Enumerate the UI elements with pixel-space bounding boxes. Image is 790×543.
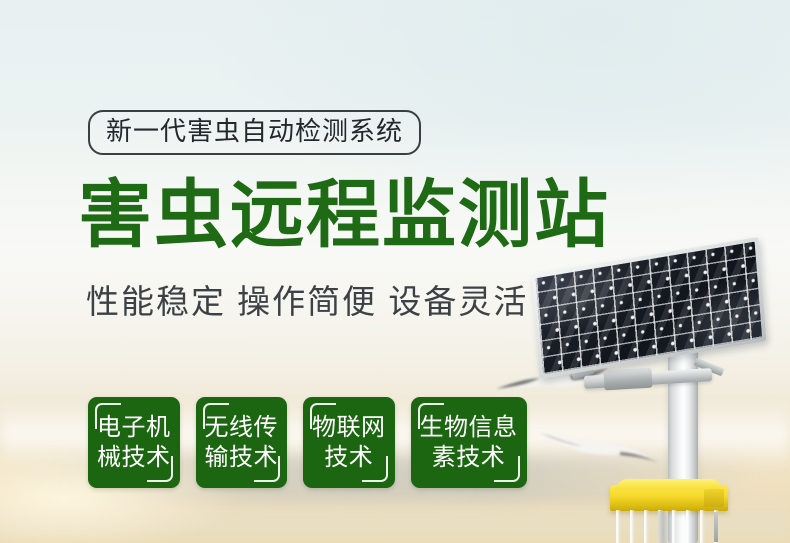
feature-tag-label: 无线传 输技术: [205, 413, 279, 473]
solar-cell-grid: [536, 242, 763, 375]
flying-gull-icon: [536, 418, 660, 468]
tag-electromechanical[interactable]: 电子机 械技术: [88, 397, 180, 488]
feature-tag-row: 电子机 械技术 无线传 输技术 物联网 技术 生物信息 素技术: [88, 397, 527, 488]
promo-banner: 新一代害虫自动检测系统 害虫远程监测站 性能稳定 操作简便 设备灵活 电子机 械…: [0, 0, 790, 543]
solar-panel: [531, 237, 766, 379]
trap-roof: [610, 485, 728, 511]
insect-trap-head: [610, 485, 728, 543]
feature-tag-label: 生物信息 素技术: [420, 413, 518, 473]
trap-collector-rods: [616, 510, 722, 543]
badge-tagline-label: 新一代害虫自动检测系统: [106, 116, 403, 146]
feature-tag-label: 电子机 械技术: [97, 413, 171, 473]
page-title: 害虫远程监测站: [78, 176, 610, 254]
feature-tag-label: 物联网 技术: [312, 413, 386, 473]
panel-mount-block: [603, 368, 652, 391]
tag-pheromone[interactable]: 生物信息 素技术: [411, 397, 527, 488]
product-illustration: [500, 250, 790, 543]
trap-center-tube: [658, 511, 668, 543]
badge-tagline: 新一代害虫自动检测系统: [88, 110, 421, 155]
tag-iot[interactable]: 物联网 技术: [303, 397, 395, 488]
solar-cell-highlights: [536, 242, 763, 375]
tag-wireless-transmission[interactable]: 无线传 输技术: [196, 397, 288, 488]
page-subtitle: 性能稳定 操作简便 设备灵活: [86, 282, 528, 322]
trap-fastener: [714, 512, 718, 542]
